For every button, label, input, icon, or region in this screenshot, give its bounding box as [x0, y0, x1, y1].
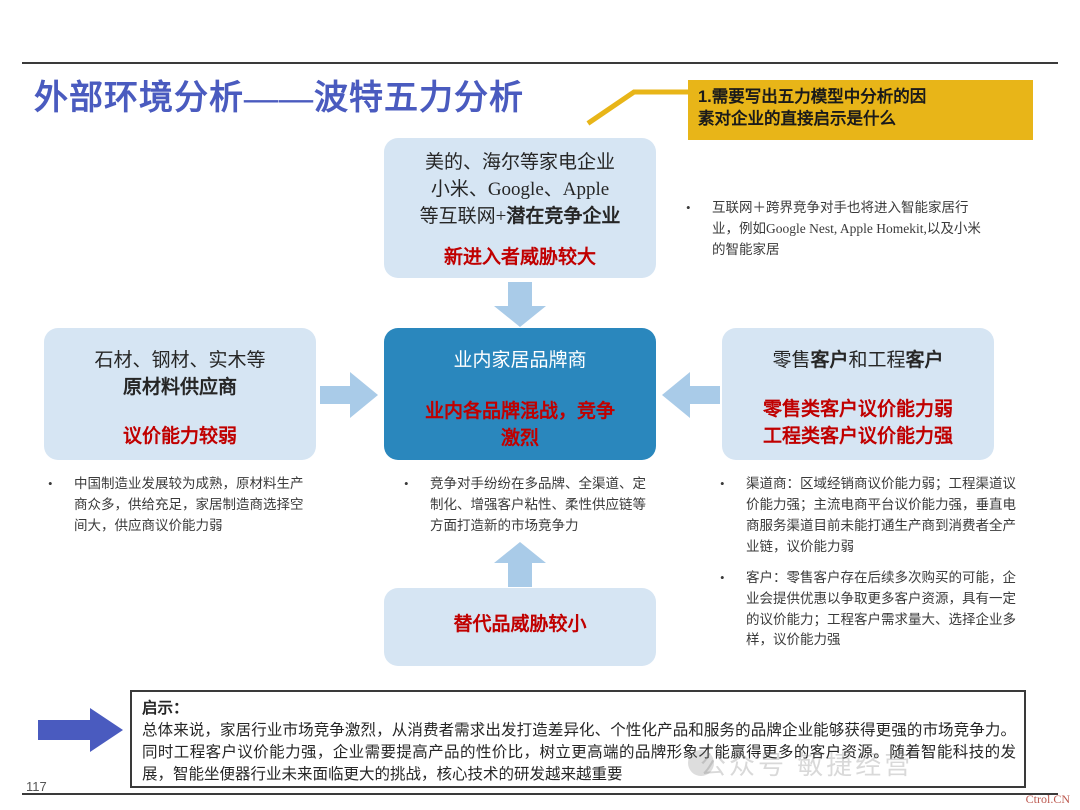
note-text: 渠道商：区域经销商议价能力弱；工程渠道议价能力强；主流电商平台议价能力强，垂直电…: [746, 474, 1016, 558]
callout-line-2: 素对企业的直接启示是什么: [698, 108, 1023, 130]
buyers-conclusion: 零售类客户议价能力弱 工程类客户议价能力强: [732, 397, 984, 450]
list-item: • 互联网＋跨界竞争对手也将进入智能家居行业，例如Google Nest, Ap…: [682, 198, 982, 261]
entrants-heading: 美的、海尔等家电企业 小米、Google、Apple 等互联网+潜在竞争企业: [392, 150, 648, 231]
notes-buyers: • 渠道商：区域经销商议价能力弱；工程渠道议价能力强；主流电商平台议价能力强，垂…: [716, 474, 1016, 661]
note-text: 互联网＋跨界竞争对手也将进入智能家居行业，例如Google Nest, Appl…: [712, 198, 982, 261]
rivalry-conclusion-line-2: 激烈: [392, 426, 648, 453]
insight-body: 总体来说，家居行业市场竞争激烈，从消费者需求出发打造差异化、个性化产品和服务的品…: [142, 720, 1016, 786]
callout-connector-line: [586, 82, 696, 128]
insight-title: 启示：: [142, 698, 1016, 720]
suppliers-line-1: 石材、钢材、实木等: [52, 348, 308, 375]
arrow-right-suppliers-to-rivalry: [320, 370, 380, 420]
buyers-head-bold-2: 客户: [906, 350, 944, 371]
buyers-head-plain-1: 零售: [772, 350, 810, 371]
notes-new-entrants: • 互联网＋跨界竞争对手也将进入智能家居行业，例如Google Nest, Ap…: [682, 198, 982, 271]
rivalry-heading: 业内家居品牌商: [392, 348, 648, 375]
arrow-left-buyers-to-rivalry: [660, 370, 720, 420]
bullet-marker-icon: •: [716, 568, 746, 588]
entrants-line-3-plain: 等互联网+: [420, 206, 507, 227]
bullet-marker-icon: •: [44, 474, 74, 494]
entrants-conclusion: 新进入者威胁较大: [392, 245, 648, 272]
note-text: 竞争对手纷纷在多品牌、全渠道、定制化、增强客户粘性、柔性供应链等方面打造新的市场…: [430, 474, 650, 537]
arrow-up-substitutes-to-rivalry: [492, 540, 548, 588]
insight-pointer-arrow: [38, 707, 124, 753]
list-item: • 竞争对手纷纷在多品牌、全渠道、定制化、增强客户粘性、柔性供应链等方面打造新的…: [400, 474, 650, 537]
buyers-conclusion-line-2: 工程类客户议价能力强: [732, 424, 984, 451]
entrants-line-3: 等互联网+潜在竞争企业: [392, 204, 648, 231]
suppliers-heading: 石材、钢材、实木等 原材料供应商: [52, 348, 308, 402]
suppliers-line-2: 原材料供应商: [52, 375, 308, 402]
entrants-line-3-bold: 潜在竞争企业: [506, 206, 620, 227]
bullet-marker-icon: •: [716, 474, 746, 494]
page-title: 外部环境分析——波特五力分析: [34, 70, 524, 119]
force-box-substitutes: 替代品威胁较小: [384, 588, 656, 666]
force-box-rivalry: 业内家居品牌商 业内各品牌混战，竞争 激烈: [384, 328, 656, 460]
buyers-conclusion-line-1: 零售类客户议价能力弱: [732, 397, 984, 424]
substitutes-conclusion: 替代品威胁较小: [392, 612, 648, 639]
notes-suppliers: • 中国制造业发展较为成熟，原材料生产商众多，供给充足，家居制造商选择空间大，供…: [44, 474, 312, 547]
force-box-suppliers: 石材、钢材、实木等 原材料供应商 议价能力较弱: [44, 328, 316, 460]
bottom-divider: [22, 793, 1058, 795]
suppliers-conclusion: 议价能力较弱: [52, 424, 308, 451]
bullet-marker-icon: •: [682, 198, 712, 218]
entrants-line-2: 小米、Google、Apple: [392, 177, 648, 204]
page-number: 117: [26, 779, 47, 794]
force-box-new-entrants: 美的、海尔等家电企业 小米、Google、Apple 等互联网+潜在竞争企业 新…: [384, 138, 656, 278]
watermark-logo-icon: [688, 750, 714, 776]
rivalry-conclusion-line-1: 业内各品牌混战，竞争: [392, 399, 648, 426]
bullet-marker-icon: •: [400, 474, 430, 494]
callout-line-1: 1.需要写出五力模型中分析的因: [698, 86, 1023, 108]
arrow-down-entrants-to-rivalry: [492, 282, 548, 328]
list-item: • 中国制造业发展较为成熟，原材料生产商众多，供给充足，家居制造商选择空间大，供…: [44, 474, 312, 537]
list-item: • 渠道商：区域经销商议价能力弱；工程渠道议价能力强；主流电商平台议价能力强，垂…: [716, 474, 1016, 558]
note-text: 客户：零售客户存在后续多次购买的可能，企业会提供优惠以争取更多客户资源，具有一定…: [746, 568, 1016, 652]
slide-canvas: 外部环境分析——波特五力分析 1.需要写出五力模型中分析的因 素对企业的直接启示…: [0, 0, 1080, 810]
buyers-head-plain-2: 和工程: [849, 350, 906, 371]
buyers-head-bold-1: 客户: [810, 350, 848, 371]
buyers-heading: 零售客户和工程客户: [732, 348, 984, 375]
list-item: • 客户：零售客户存在后续多次购买的可能，企业会提供优惠以争取更多客户资源，具有…: [716, 568, 1016, 652]
brandmark-label: Ctrol.CN: [1026, 792, 1070, 807]
insight-box: 启示： 总体来说，家居行业市场竞争激烈，从消费者需求出发打造差异化、个性化产品和…: [130, 690, 1026, 788]
rivalry-conclusion: 业内各品牌混战，竞争 激烈: [392, 399, 648, 452]
force-box-buyers: 零售客户和工程客户 零售类客户议价能力弱 工程类客户议价能力强: [722, 328, 994, 460]
note-text: 中国制造业发展较为成熟，原材料生产商众多，供给充足，家居制造商选择空间大，供应商…: [74, 474, 312, 537]
top-divider: [22, 62, 1058, 64]
entrants-line-1: 美的、海尔等家电企业: [392, 150, 648, 177]
notes-rivalry: • 竞争对手纷纷在多品牌、全渠道、定制化、增强客户粘性、柔性供应链等方面打造新的…: [400, 474, 650, 547]
instruction-callout: 1.需要写出五力模型中分析的因 素对企业的直接启示是什么: [688, 80, 1033, 140]
